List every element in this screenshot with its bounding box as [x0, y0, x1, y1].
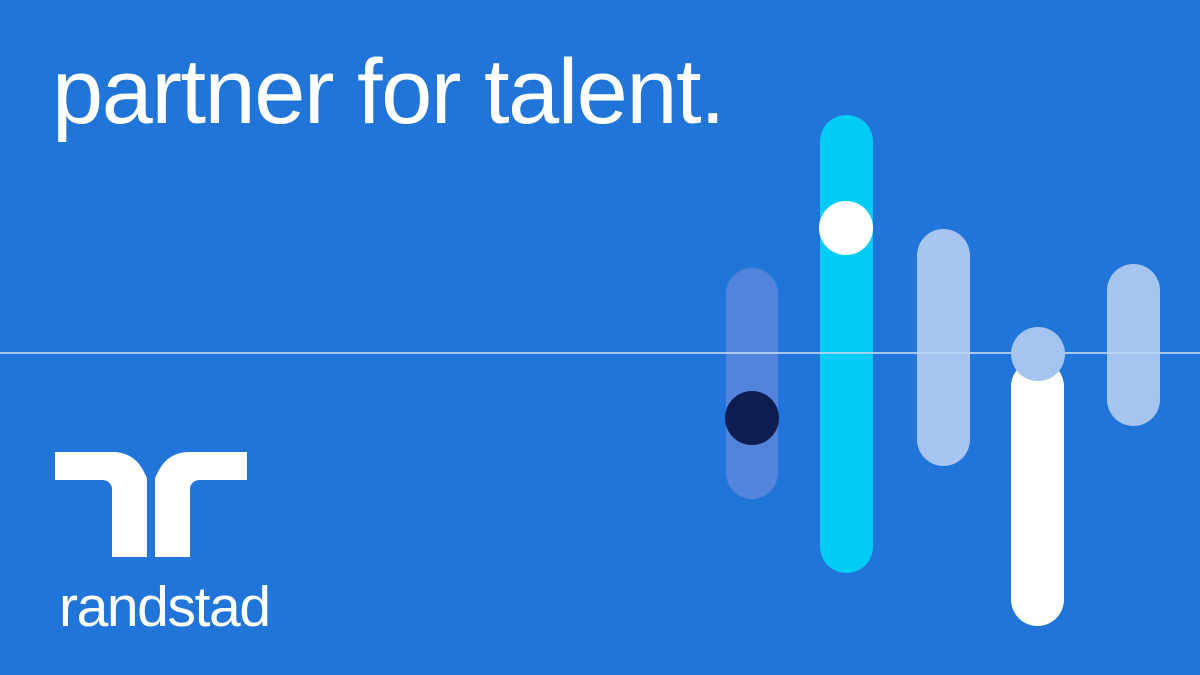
- chart-bar-4: [1011, 360, 1064, 626]
- chart-bar-5: [1107, 264, 1160, 426]
- chart-bar-1: [726, 268, 778, 499]
- accent-dot-navy: [725, 391, 779, 445]
- accent-dot-white: [819, 201, 873, 255]
- brand-banner: partner for talent. randstad: [0, 0, 1200, 675]
- page-title: partner for talent.: [52, 46, 724, 138]
- accent-dot-pale: [1011, 327, 1065, 381]
- randstad-y-mark: [55, 452, 247, 557]
- randstad-wordmark: randstad: [59, 579, 270, 636]
- randstad-logo: randstad: [55, 452, 270, 636]
- chart-bar-3: [917, 229, 970, 466]
- chart-bar-2: [820, 115, 873, 573]
